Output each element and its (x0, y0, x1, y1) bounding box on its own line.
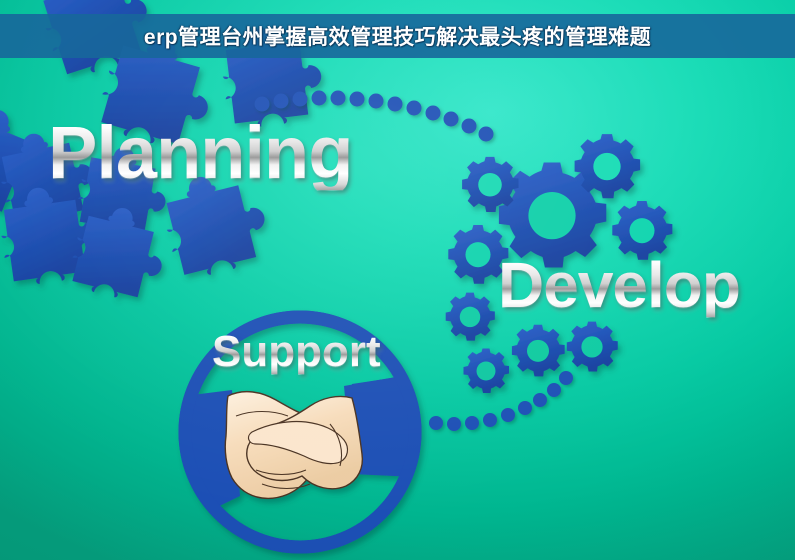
label-develop: Develop (498, 253, 740, 317)
headline-text: erp管理台州掌握高效管理技巧解决最头疼的管理难题 (144, 21, 651, 51)
promotional-banner-image: Planning Develop Support erp管理台州掌握高效管理技巧… (0, 0, 795, 560)
headline-band: erp管理台州掌握高效管理技巧解决最头疼的管理难题 (0, 14, 795, 58)
label-planning: Planning (48, 116, 352, 190)
label-support: Support (212, 330, 381, 374)
